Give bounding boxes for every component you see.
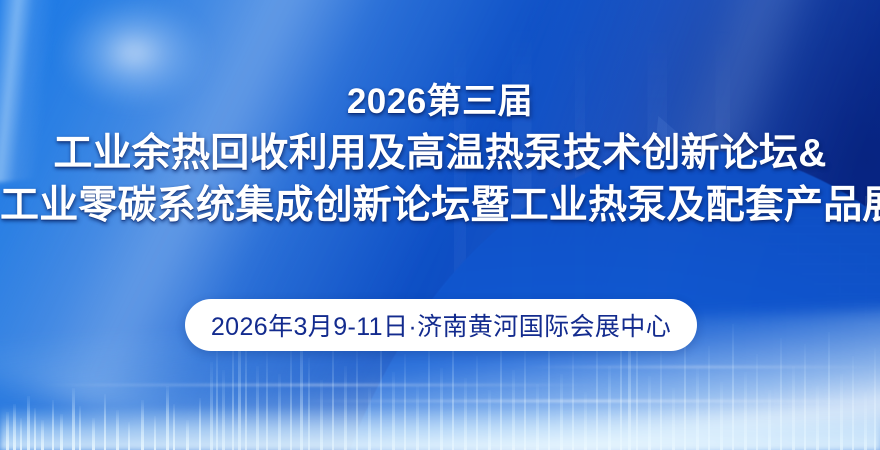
event-banner: 2026第三届 工业余热回收利用及高温热泵技术创新论坛& 工业零碳系统集成创新论… [0,0,880,450]
date-venue-badge: 2026年3月9-11日·济南黄河国际会展中心 [185,299,697,351]
title-line-3: 工业零碳系统集成创新论坛暨工业热泵及配套产品展 [0,186,880,225]
banner-content: 2026第三届 工业余热回收利用及高温热泵技术创新论坛& 工业零碳系统集成创新论… [0,0,880,450]
title-line-2: 工业余热回收利用及高温热泵技术创新论坛& [0,134,880,173]
title-line-1: 2026第三届 [0,84,880,119]
event-title: 2026第三届 工业余热回收利用及高温热泵技术创新论坛& 工业零碳系统集成创新论… [0,84,880,225]
date-venue-text: 2026年3月9-11日·济南黄河国际会展中心 [211,307,671,343]
